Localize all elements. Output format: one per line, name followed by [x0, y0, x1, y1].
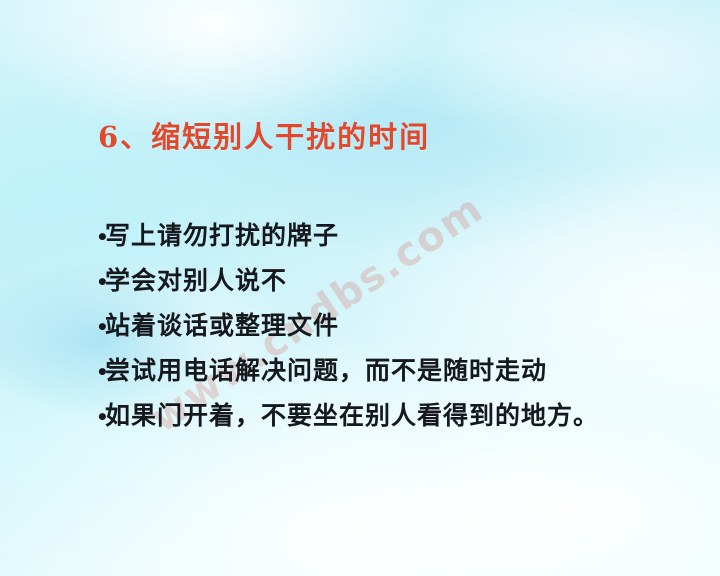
list-item: • 如果门开着，不要坐在别人看得到的地方。 — [96, 399, 656, 434]
list-item: • 写上请勿打扰的牌子 — [96, 219, 656, 254]
list-item-label: 学会对别人说不 — [105, 264, 287, 298]
bullet-dot-icon: • — [96, 220, 105, 254]
presentation-slide: www.cndbs.com 6、缩短别人干扰的时间 • 写上请勿打扰的牌子 • … — [0, 0, 720, 576]
slide-bullet-list: • 写上请勿打扰的牌子 • 学会对别人说不 • 站着谈话或整理文件 • 尝试用电… — [96, 219, 656, 434]
list-item: • 学会对别人说不 — [96, 264, 656, 299]
bullet-dot-icon: • — [96, 400, 105, 434]
bullet-dot-icon: • — [96, 310, 105, 344]
list-item-label: 站着谈话或整理文件 — [105, 309, 339, 343]
list-item-label: 如果门开着，不要坐在别人看得到的地方。 — [105, 399, 599, 433]
list-item-label: 写上请勿打扰的牌子 — [105, 219, 339, 253]
bullet-dot-icon: • — [96, 265, 105, 299]
list-item: • 尝试用电话解决问题，而不是随时走动 — [96, 354, 656, 389]
list-item: • 站着谈话或整理文件 — [96, 309, 656, 344]
bullet-dot-icon: • — [96, 355, 105, 389]
list-item-label: 尝试用电话解决问题，而不是随时走动 — [105, 354, 547, 388]
slide-title: 6、缩短别人干扰的时间 — [98, 118, 430, 156]
